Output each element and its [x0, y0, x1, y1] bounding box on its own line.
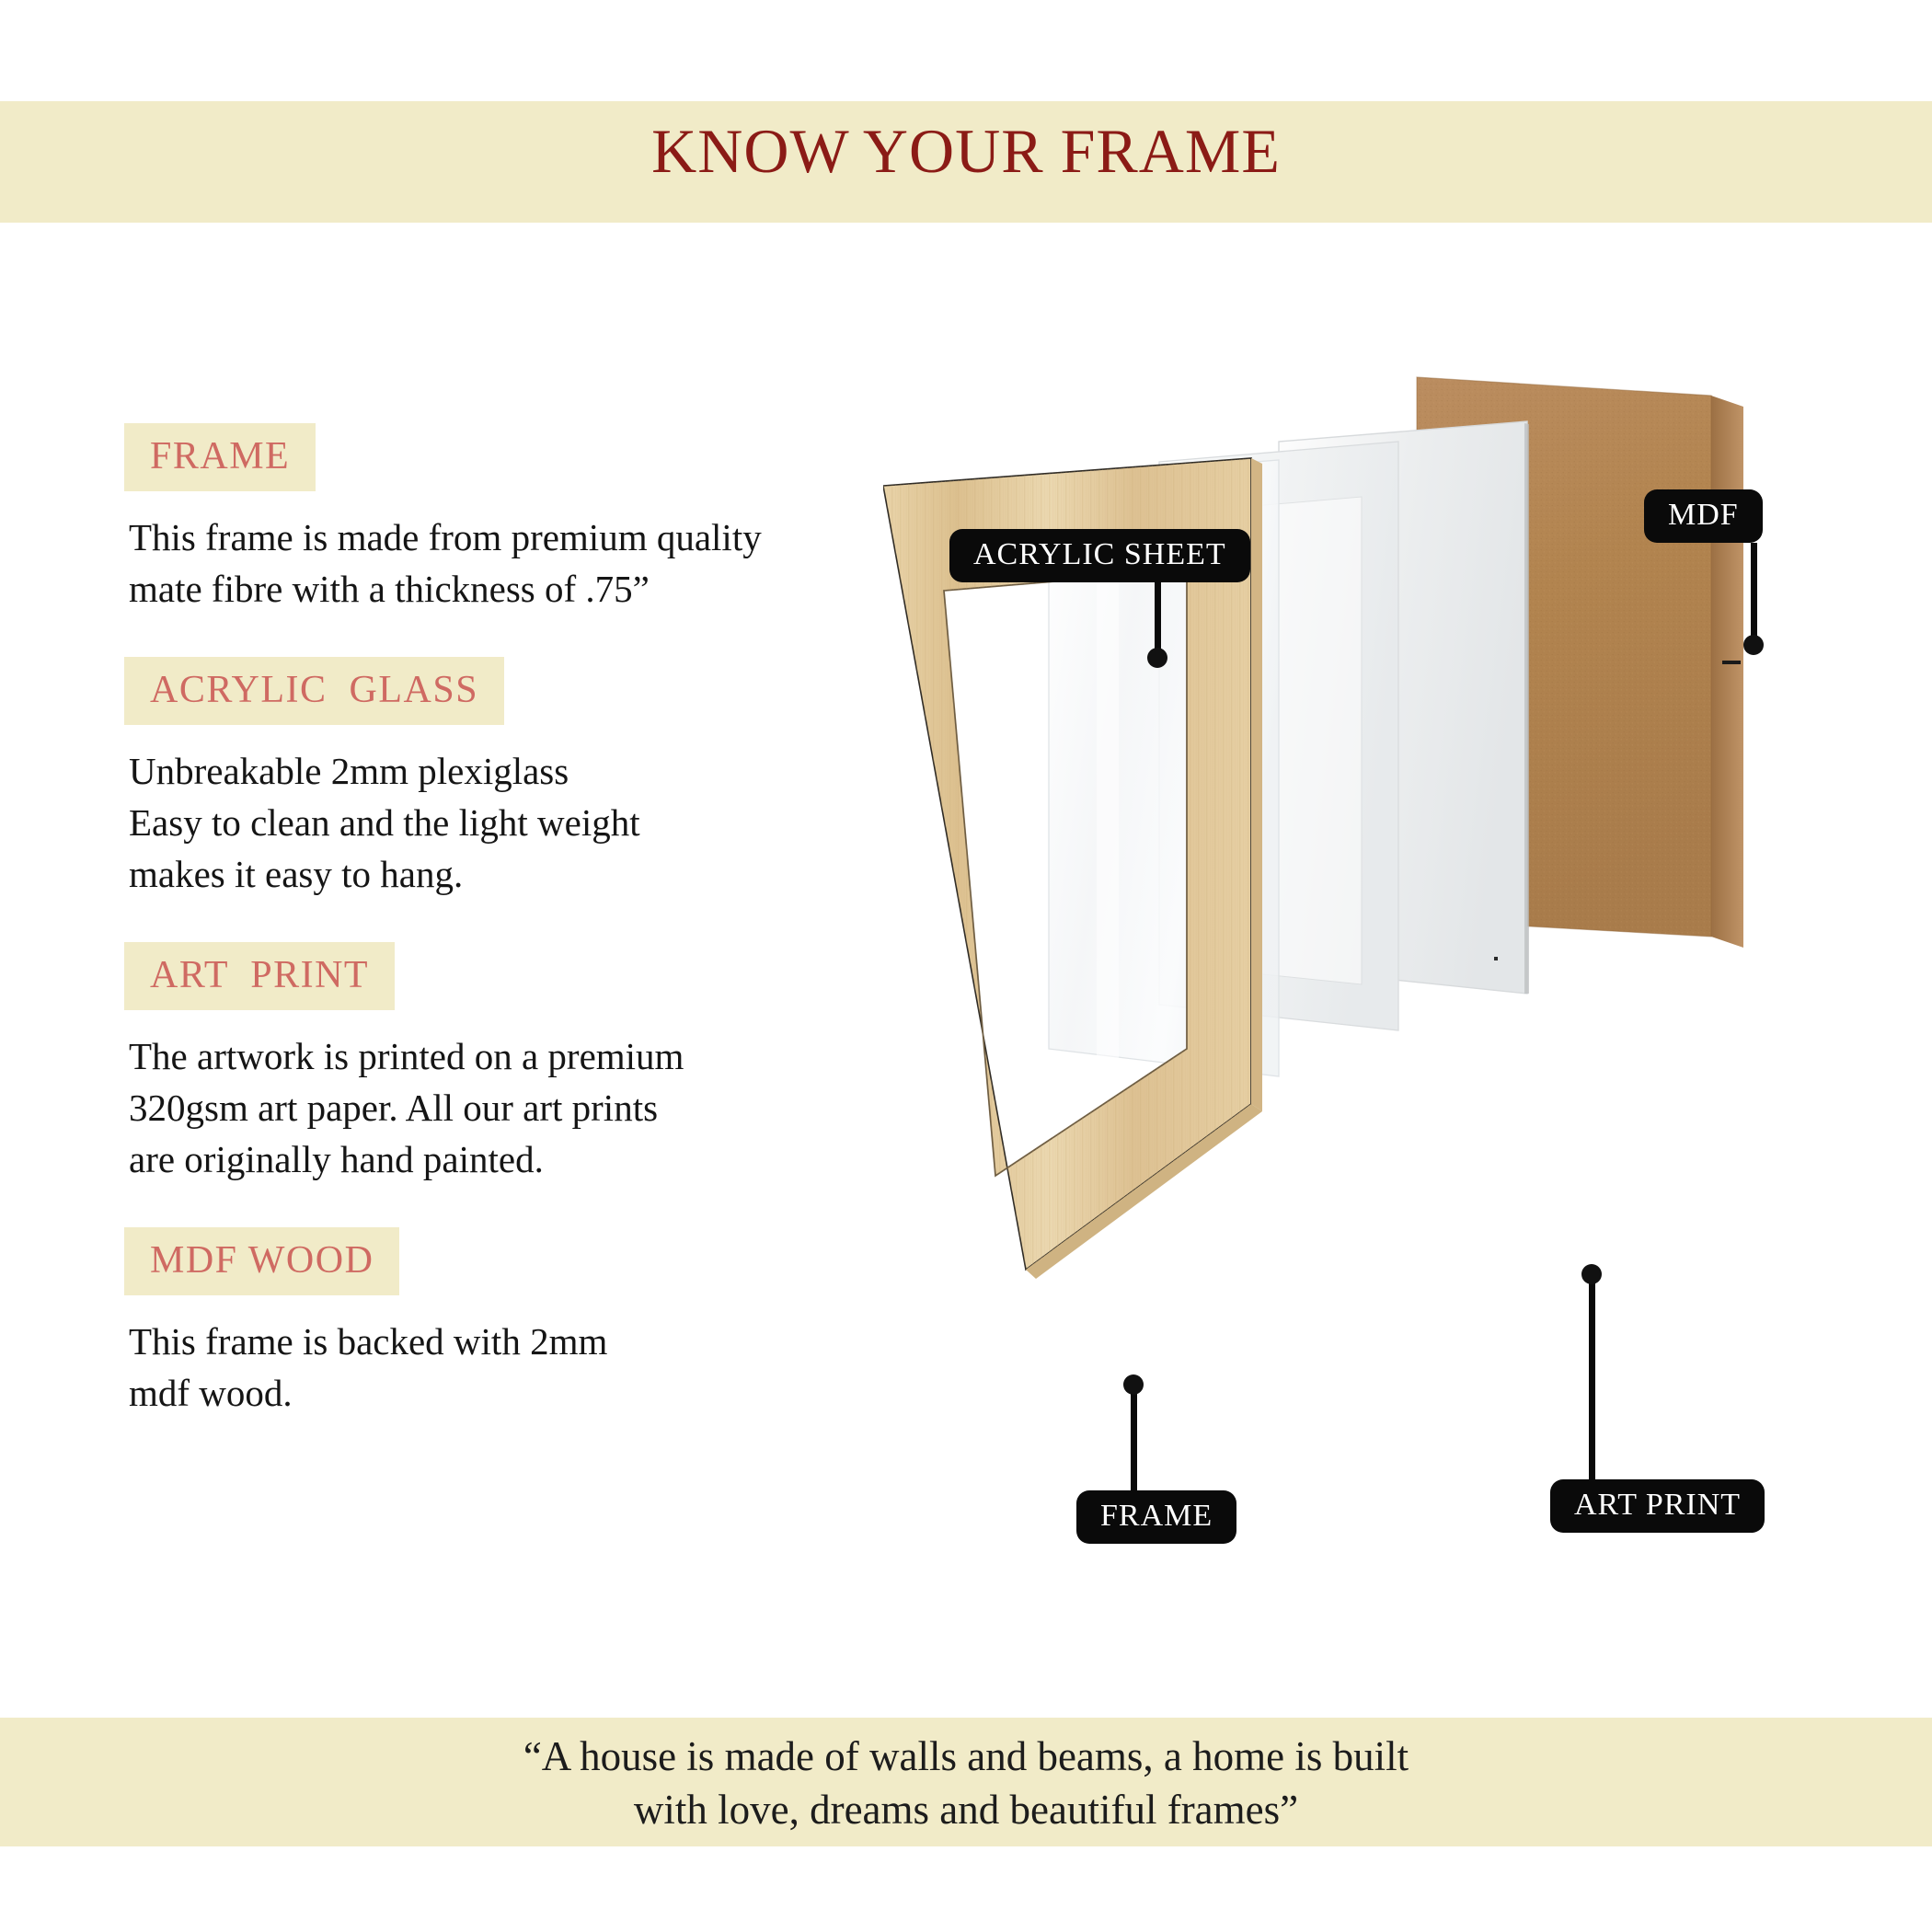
- spec-block-acrylic-glass: ACRYLIC GLASS Unbreakable 2mm plexiglass…: [124, 657, 888, 900]
- spec-body-line: makes it easy to hang.: [129, 848, 888, 900]
- spec-list: FRAME This frame is made from premium qu…: [124, 423, 888, 1461]
- spec-block-frame: FRAME This frame is made from premium qu…: [124, 423, 888, 615]
- spec-body-mdf-wood: This frame is backed with 2mm mdf wood.: [124, 1316, 888, 1419]
- spec-heading-acrylic-glass: ACRYLIC GLASS: [124, 657, 504, 725]
- leader-line-mdf: [1751, 543, 1757, 644]
- spec-body-line: This frame is made from premium quality: [129, 512, 888, 563]
- spec-body-line: 320gsm art paper. All our art prints: [129, 1082, 888, 1133]
- spec-body-acrylic-glass: Unbreakable 2mm plexiglass Easy to clean…: [124, 745, 888, 900]
- spec-body-line: This frame is backed with 2mm: [129, 1316, 888, 1367]
- spec-body-frame: This frame is made from premium quality …: [124, 512, 888, 615]
- spec-block-mdf-wood: MDF WOOD This frame is backed with 2mm m…: [124, 1227, 888, 1419]
- spec-body-line: mdf wood.: [129, 1367, 888, 1419]
- leader-dot-mdf: [1743, 635, 1764, 655]
- footer-quote-line-1: “A house is made of walls and beams, a h…: [0, 1730, 1932, 1783]
- spec-body-line: Unbreakable 2mm plexiglass: [129, 745, 888, 797]
- spec-body-line: mate fibre with a thickness of .75”: [129, 563, 888, 615]
- spec-body-line: are originally hand painted.: [129, 1133, 888, 1185]
- page-title: KNOW YOUR FRAME: [0, 115, 1932, 188]
- footer-quote: “A house is made of walls and beams, a h…: [0, 1730, 1932, 1836]
- leader-line-art-print: [1589, 1274, 1595, 1490]
- callout-mdf[interactable]: MDF: [1644, 489, 1763, 543]
- callout-acrylic-sheet[interactable]: ACRYLIC SHEET: [949, 529, 1250, 582]
- callout-frame[interactable]: FRAME: [1076, 1490, 1236, 1544]
- leader-dot-acrylic-sheet: [1147, 648, 1167, 668]
- leader-dot-frame: [1123, 1374, 1144, 1395]
- leader-line-acrylic-sheet: [1155, 580, 1161, 658]
- leader-dot-art-print: [1581, 1264, 1602, 1284]
- spec-heading-art-print: ART PRINT: [124, 942, 395, 1010]
- footer-quote-line-2: with love, dreams and beautiful frames”: [0, 1783, 1932, 1836]
- spec-heading-frame: FRAME: [124, 423, 316, 491]
- spec-body-art-print: The artwork is printed on a premium 320g…: [124, 1030, 888, 1185]
- spec-body-line: Easy to clean and the light weight: [129, 797, 888, 848]
- leader-line-frame: [1131, 1385, 1137, 1500]
- callout-art-print[interactable]: ART PRINT: [1550, 1479, 1765, 1533]
- spec-heading-mdf-wood: MDF WOOD: [124, 1227, 399, 1295]
- spec-block-art-print: ART PRINT The artwork is printed on a pr…: [124, 942, 888, 1185]
- spec-body-line: The artwork is printed on a premium: [129, 1030, 888, 1082]
